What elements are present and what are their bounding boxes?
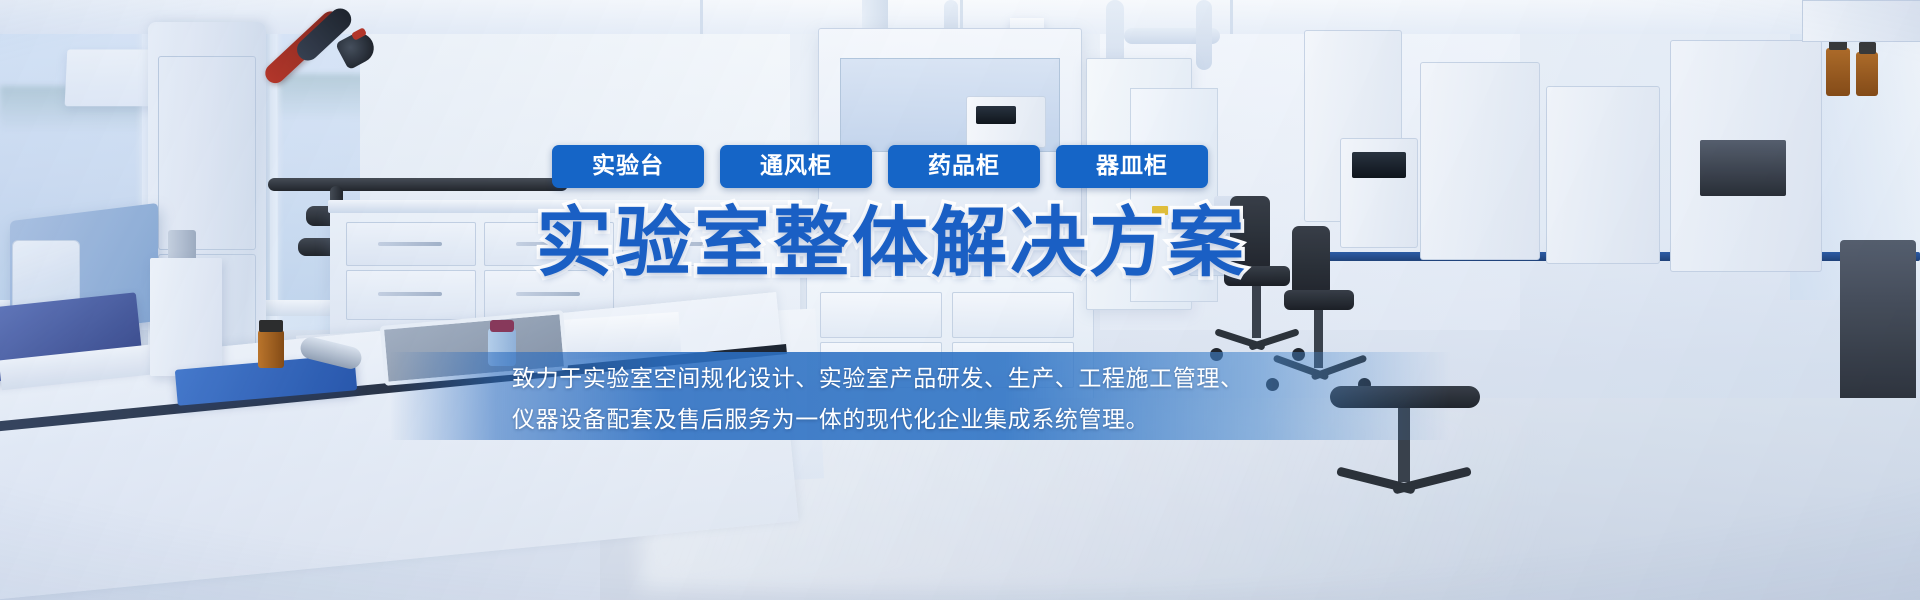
chip-fume-hood[interactable]: 通风柜: [720, 145, 872, 188]
chip-glassware-cabinet[interactable]: 器皿柜: [1056, 145, 1208, 188]
category-chip-row: 实验台 通风柜 药品柜 器皿柜: [552, 145, 1208, 188]
banner-subtitle: 致力于实验室空间规化设计、实验室产品研发、生产、工程施工管理、 仪器设备配套及售…: [512, 358, 1472, 440]
subtitle-line-1: 致力于实验室空间规化设计、实验室产品研发、生产、工程施工管理、: [512, 358, 1472, 399]
chip-chemical-cabinet[interactable]: 药品柜: [888, 145, 1040, 188]
banner-overlay: 实验台 通风柜 药品柜 器皿柜 实验室整体解决方案 致力于实验室空间规化设计、实…: [0, 0, 1920, 600]
subtitle-line-2: 仪器设备配套及售后服务为一体的现代化企业集成系统管理。: [512, 399, 1472, 440]
chip-lab-bench[interactable]: 实验台: [552, 145, 704, 188]
banner-headline: 实验室整体解决方案: [536, 206, 1247, 282]
hero-banner: 实验台 通风柜 药品柜 器皿柜 实验室整体解决方案 致力于实验室空间规化设计、实…: [0, 0, 1920, 600]
